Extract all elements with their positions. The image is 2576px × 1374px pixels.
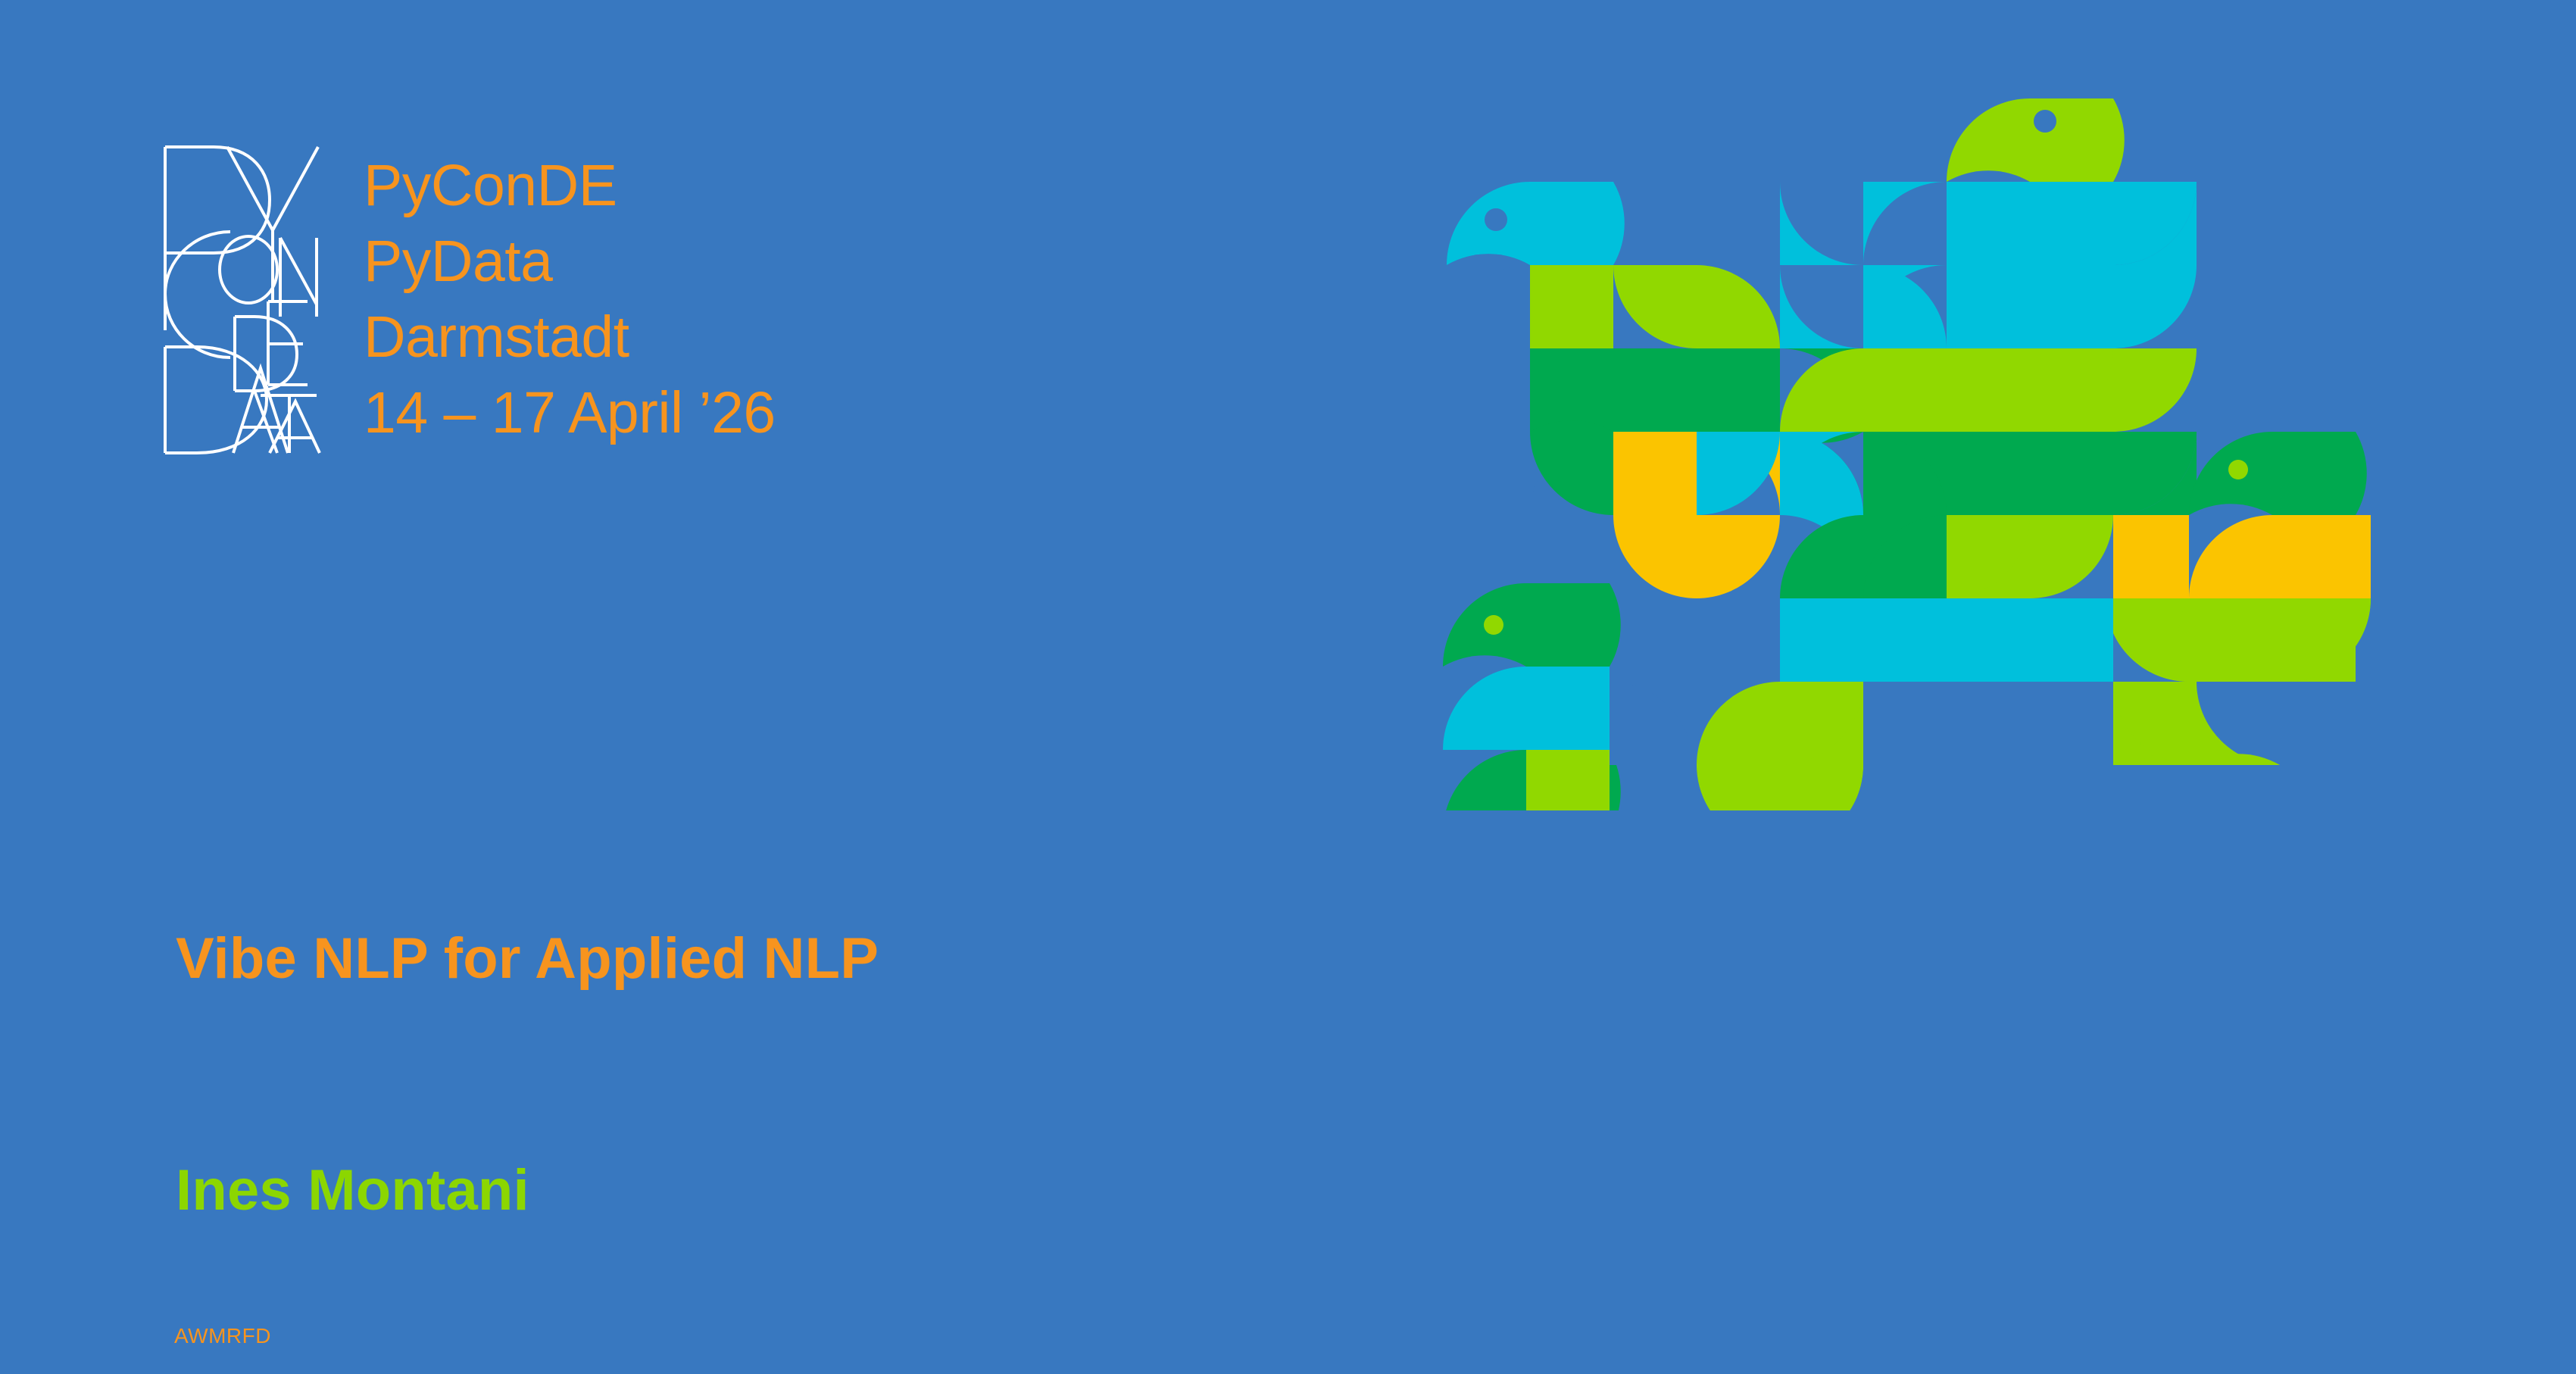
pycon-logo-mark	[148, 141, 321, 459]
wordmark-line-city: Darmstadt	[364, 299, 776, 375]
wordmark-line-pydata: PyData	[364, 223, 776, 299]
speaker-name: Ines Montani	[176, 1157, 529, 1223]
snake-eye	[1485, 208, 1507, 231]
snake-eye	[2034, 110, 2056, 133]
illustration-shapes	[1443, 98, 2371, 810]
snake-illustration	[1424, 45, 2371, 810]
wordmark-line-dates: 14 – 17 April ’26	[364, 375, 776, 451]
event-wordmark: PyConDE PyData Darmstadt 14 – 17 April ’…	[364, 148, 776, 451]
snake-eye	[2228, 460, 2248, 479]
talk-title: Vibe NLP for Applied NLP	[176, 926, 879, 991]
snake-eye	[1484, 615, 1503, 635]
wordmark-line-pyconde: PyConDE	[364, 148, 776, 223]
slide-root: PyConDE PyData Darmstadt 14 – 17 April ’…	[0, 0, 2576, 1374]
slide-code: AWMRFD	[174, 1324, 271, 1348]
